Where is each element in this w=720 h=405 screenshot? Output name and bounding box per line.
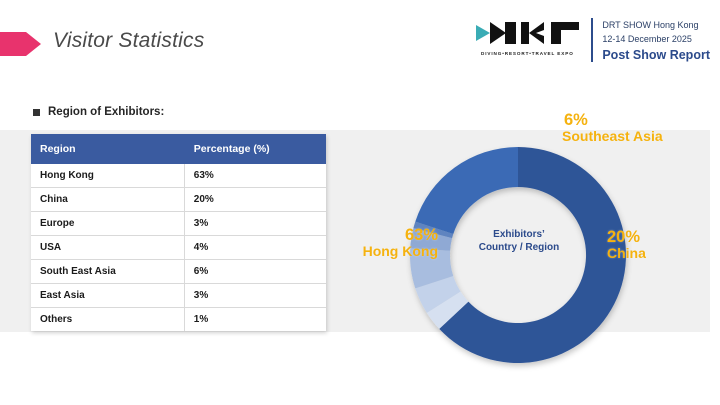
cell-region: Others <box>31 308 184 332</box>
section-heading-text: Region of Exhibitors: <box>48 106 164 118</box>
cell-region: Europe <box>31 212 184 236</box>
cell-region: South East Asia <box>31 260 184 284</box>
cell-percentage: 63% <box>184 164 326 188</box>
cell-region: Hong Kong <box>31 164 184 188</box>
donut-slice-china <box>415 147 518 234</box>
cell-percentage: 1% <box>184 308 326 332</box>
square-bullet-icon <box>33 109 40 116</box>
column-header-percentage: Percentage (%) <box>184 134 326 164</box>
cell-percentage: 4% <box>184 236 326 260</box>
cell-percentage: 3% <box>184 284 326 308</box>
drt-logo-tagline: DIVING•RESORT•TRAVEL EXPO <box>473 51 581 56</box>
table-row: China20% <box>31 188 326 212</box>
page-title: Visitor Statistics <box>53 29 204 53</box>
cell-region: East Asia <box>31 284 184 308</box>
table-row: USA4% <box>31 236 326 260</box>
callout-southeast-asia-percent: 6% <box>564 112 663 129</box>
section-heading: Region of Exhibitors: <box>33 106 164 118</box>
title-marker-arrow-icon <box>0 30 42 58</box>
drt-logo-icon: DIVING•RESORT•TRAVEL EXPO <box>473 17 591 56</box>
exhibitors-region-donut-chart <box>398 135 638 375</box>
cell-percentage: 20% <box>184 188 326 212</box>
slide-header: Visitor Statistics DIVING•RESORT•TRAVEL … <box>0 0 720 88</box>
show-info: DRT SHOW Hong Kong 12-14 December 2025 P… <box>602 17 710 64</box>
table-row: Others1% <box>31 308 326 332</box>
logo-divider <box>591 18 593 62</box>
cell-region: USA <box>31 236 184 260</box>
cell-percentage: 3% <box>184 212 326 236</box>
table-row: Hong Kong63% <box>31 164 326 188</box>
logo-lockup: DIVING•RESORT•TRAVEL EXPO DRT SHOW Hong … <box>473 17 710 64</box>
table-row: South East Asia6% <box>31 260 326 284</box>
cell-percentage: 6% <box>184 260 326 284</box>
table-header-row: Region Percentage (%) <box>31 134 326 164</box>
show-dates: 12-14 December 2025 <box>602 32 710 46</box>
table-row: Europe3% <box>31 212 326 236</box>
report-label: Post Show Report <box>602 47 710 64</box>
table-row: East Asia3% <box>31 284 326 308</box>
cell-region: China <box>31 188 184 212</box>
column-header-region: Region <box>31 134 184 164</box>
region-of-exhibitors-table: Region Percentage (%) Hong Kong63%China2… <box>31 134 326 331</box>
show-name: DRT SHOW Hong Kong <box>602 18 710 32</box>
